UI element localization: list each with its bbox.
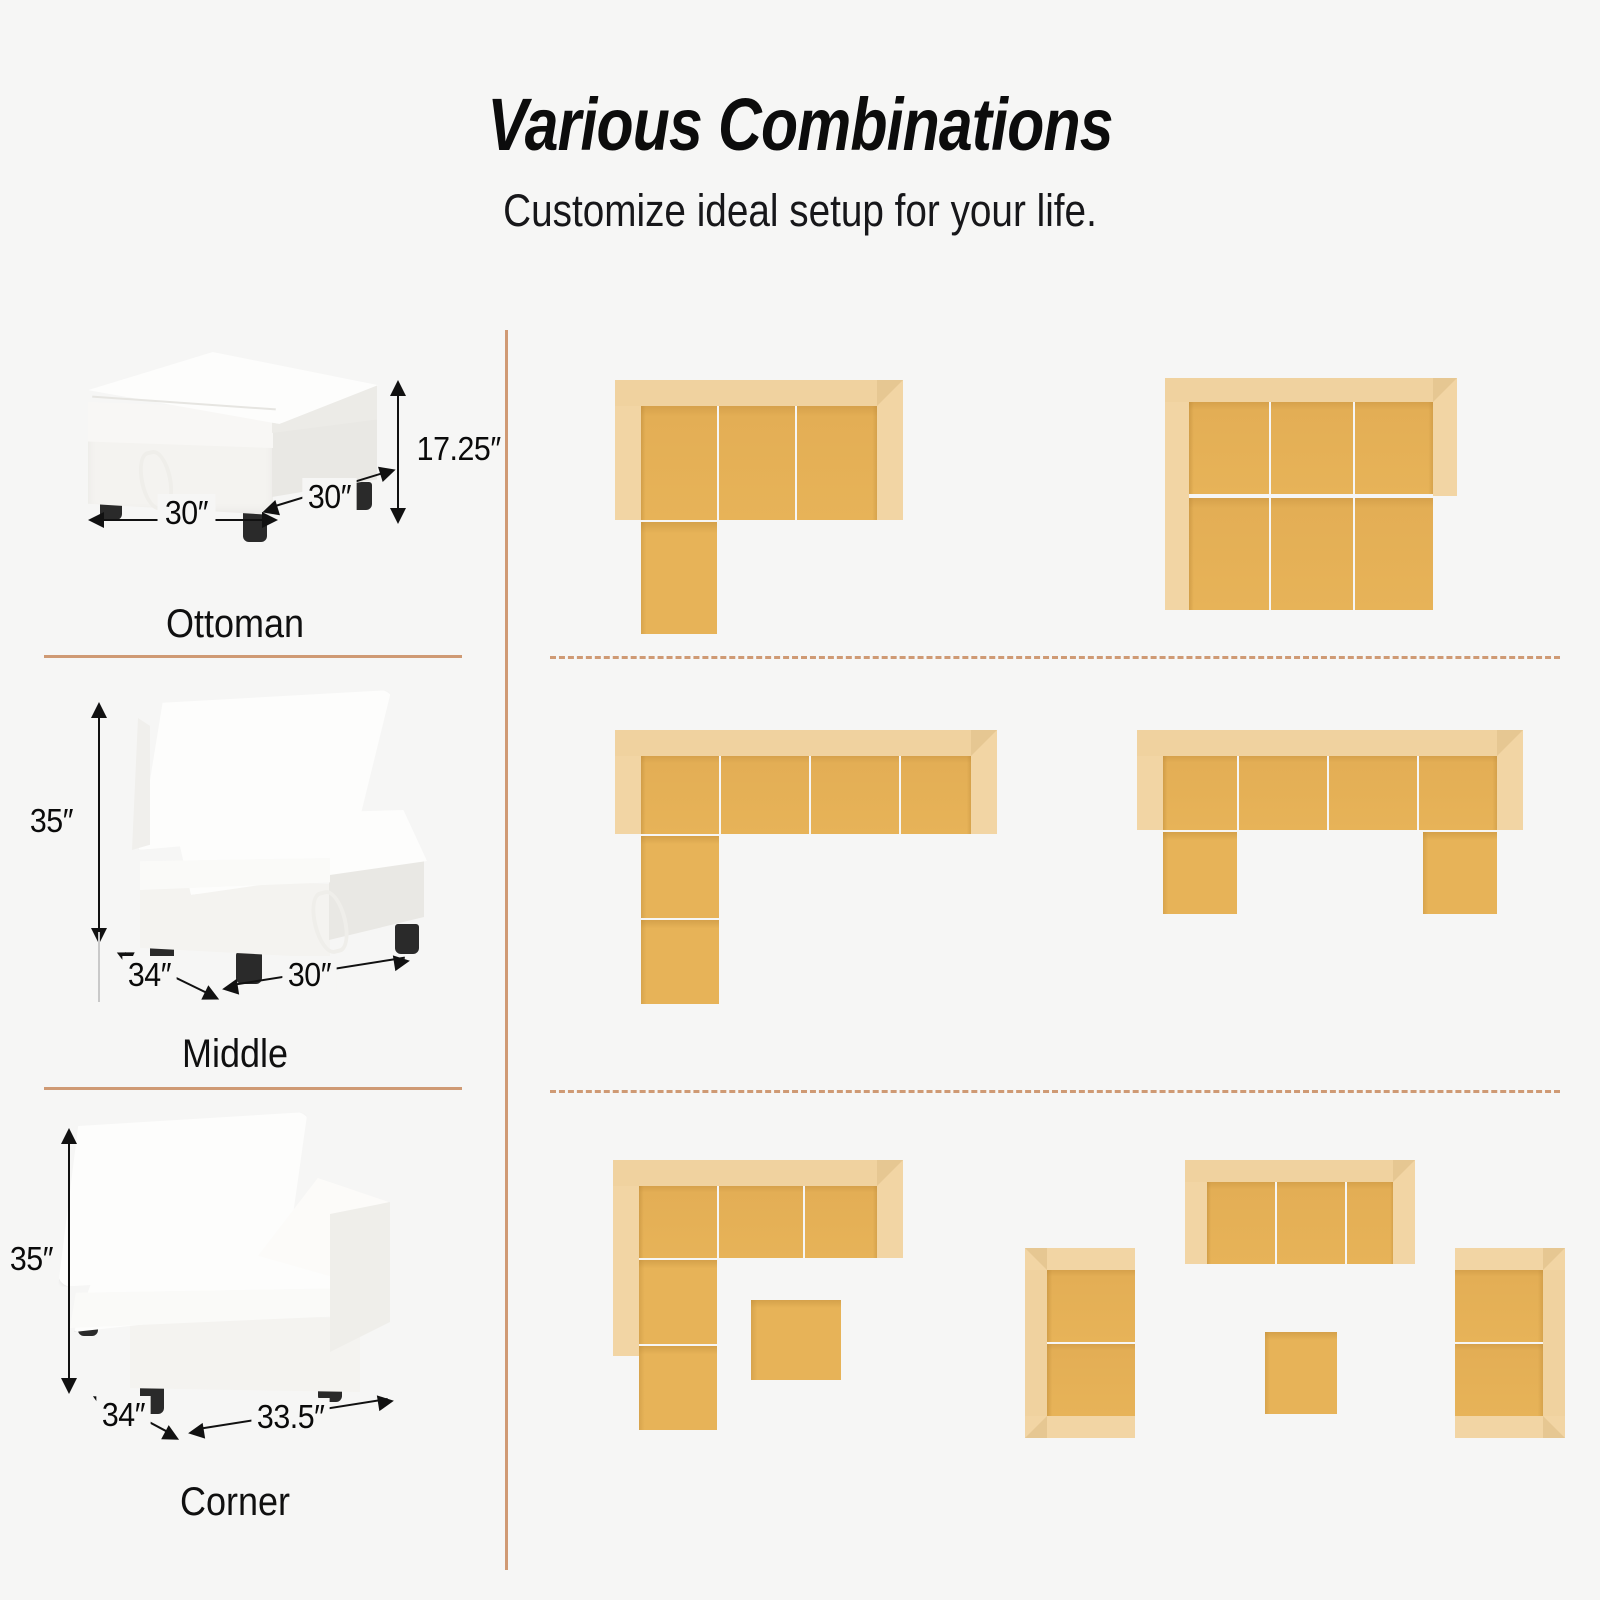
combo-4-right-arm-mitre (1497, 730, 1523, 756)
middle-height-extension (98, 932, 100, 1002)
combo-5-right-arm-mitre (877, 1160, 903, 1186)
combo-4-seat-1 (1163, 756, 1237, 830)
combo-6-sofa-seat-3 (1347, 1182, 1393, 1264)
middle-backrest (128, 690, 394, 850)
combo-5 (613, 1160, 933, 1450)
ottoman-height-value: 17.25″ (417, 430, 501, 468)
product-card-ottoman: 17.25″ 30″ 30″ Ottoman (0, 330, 500, 660)
corner-height-arrow-top (61, 1128, 77, 1144)
product-label-corner: Corner (24, 1480, 447, 1525)
combo-2-seat-5 (1271, 498, 1353, 610)
combo-6-sofa-seat-1 (1207, 1182, 1275, 1264)
middle-foot-back-right (395, 924, 419, 954)
combo-4-right-extension (1423, 832, 1497, 914)
combo-divider-2 (550, 1090, 1560, 1093)
middle-depth-value: 34″ (122, 956, 176, 994)
corner-height-line (68, 1140, 70, 1382)
combo-6-right-loveseat-top-mitre (1543, 1248, 1565, 1270)
combo-divider-1 (550, 656, 1560, 659)
combo-6-ottoman (1265, 1332, 1337, 1414)
combo-6-right-loveseat (1455, 1248, 1565, 1438)
combo-5-ottoman (751, 1300, 841, 1380)
combo-3-seat-4 (901, 756, 971, 834)
corner-depth-value: 34″ (96, 1396, 150, 1434)
middle-width-arrow-left (221, 979, 239, 997)
product-list: 17.25″ 30″ 30″ Ottoman (0, 330, 500, 1590)
combo-1 (615, 380, 925, 610)
combo-4-left-extension (1163, 832, 1237, 914)
corner-illustration: 35″ 34″ 33.5″ (0, 1092, 500, 1532)
header: Various Combinations Customize ideal set… (0, 0, 1600, 233)
combo-6-left-loveseat-seat-2 (1047, 1344, 1135, 1416)
combo-2 (1165, 378, 1475, 610)
combo-6-right-loveseat-seat-1 (1455, 1270, 1543, 1342)
combo-4-seat-2 (1239, 756, 1327, 830)
middle-width-arrow-right (393, 953, 411, 971)
product-label-ottoman: Ottoman (24, 602, 447, 647)
middle-height-value: 35″ (30, 802, 73, 840)
ottoman-height-arrow-bottom (390, 508, 406, 524)
combo-6-left-loveseat (1025, 1248, 1135, 1438)
combo-5-extension-2 (639, 1346, 717, 1430)
combo-2-seat-2 (1271, 402, 1353, 494)
ottoman-depth-arrow-right (378, 462, 398, 482)
product-label-middle: Middle (24, 1032, 447, 1077)
corner-height-arrow-bottom (61, 1378, 77, 1394)
ottoman-height-arrow-top (390, 380, 406, 396)
combo-4 (1137, 730, 1527, 935)
combo-2-seat-6 (1355, 498, 1433, 610)
combo-3-seat-2 (721, 756, 809, 834)
combo-5-seat-2 (719, 1186, 803, 1258)
combo-2-back-band (1165, 378, 1457, 402)
combo-1-seat-1 (641, 406, 717, 520)
corner-width-value: 33.5″ (251, 1398, 330, 1436)
combo-4-back-band (1137, 730, 1523, 756)
combo-6-left-loveseat-seat-1 (1047, 1270, 1135, 1342)
ottoman-height-line (397, 392, 399, 512)
combo-6-right-loveseat-back-band (1543, 1248, 1565, 1438)
combo-5-left-arm (613, 1160, 639, 1356)
product-card-middle: 35″ 34″ 30″ Middle (0, 662, 500, 1087)
middle-depth-arrow-right (201, 985, 222, 1006)
combo-3-seat-3 (811, 756, 899, 834)
combo-5-extension-1 (639, 1260, 717, 1344)
combo-3-right-arm-mitre (971, 730, 997, 756)
corner-armrest-side (330, 1202, 390, 1352)
combo-2-left-arm (1165, 378, 1189, 610)
corner-width-arrow-left (187, 1423, 205, 1441)
combination-diagrams (505, 330, 1600, 1590)
combo-1-right-arm-mitre (877, 380, 903, 406)
combo-4-seat-3 (1329, 756, 1417, 830)
combo-3 (615, 730, 1005, 1020)
page-subtitle: Customize ideal setup for your life. (112, 162, 1488, 233)
combo-5-seat-3 (805, 1186, 877, 1258)
combo-1-seat-3 (797, 406, 877, 520)
combo-6-sofa-seat-2 (1277, 1182, 1345, 1264)
combo-2-seat-3 (1355, 402, 1433, 494)
combo-6 (1025, 1160, 1545, 1460)
ottoman-width-value: 30″ (158, 494, 216, 532)
combo-6-sofa-right-arm-mitre (1393, 1160, 1415, 1182)
middle-illustration: 35″ 34″ 30″ (0, 662, 500, 1087)
combo-1-extension-1 (641, 522, 717, 634)
corner-width-arrow-right (377, 1393, 395, 1411)
ottoman-width-arrow-left (88, 512, 104, 528)
middle-backrest-edge (120, 718, 150, 850)
product-card-corner: 35″ 34″ 33.5″ Corner (0, 1092, 500, 1532)
combo-3-extension-1 (641, 836, 719, 918)
combo-4-seat-4 (1419, 756, 1497, 830)
combo-6-left-loveseat-top-mitre (1025, 1248, 1047, 1270)
combo-5-seat-1 (639, 1186, 717, 1258)
middle-height-line (98, 714, 100, 932)
product-separator-2 (44, 1087, 462, 1090)
combo-3-extension-2 (641, 920, 719, 1004)
combo-3-back-band (615, 730, 997, 756)
combo-2-seat-1 (1189, 402, 1269, 494)
corner-base-front (130, 1314, 360, 1392)
combo-6-right-loveseat-seat-2 (1455, 1344, 1543, 1416)
combo-1-seat-2 (719, 406, 795, 520)
combo-3-seat-1 (641, 756, 719, 834)
combo-6-sofa (1185, 1160, 1415, 1264)
combo-6-left-loveseat-back-band (1025, 1248, 1047, 1438)
combo-6-right-loveseat-bottom-mitre (1543, 1416, 1565, 1438)
combo-2-right-arm-mitre (1433, 378, 1457, 402)
middle-height-arrow-top (91, 702, 107, 718)
combo-5-back-band (613, 1160, 903, 1186)
combo-1-back-band (615, 380, 903, 406)
combo-6-sofa-back-band (1185, 1160, 1415, 1182)
combo-6-left-loveseat-bottom-mitre (1025, 1416, 1047, 1438)
product-separator-1 (44, 655, 462, 658)
combo-2-seat-4 (1189, 498, 1269, 610)
corner-backrest (58, 1112, 310, 1287)
middle-width-value: 30″ (282, 956, 336, 994)
page-title: Various Combinations (144, 0, 1456, 162)
ottoman-depth-value: 30″ (302, 478, 356, 516)
corner-height-value: 35″ (10, 1240, 53, 1278)
